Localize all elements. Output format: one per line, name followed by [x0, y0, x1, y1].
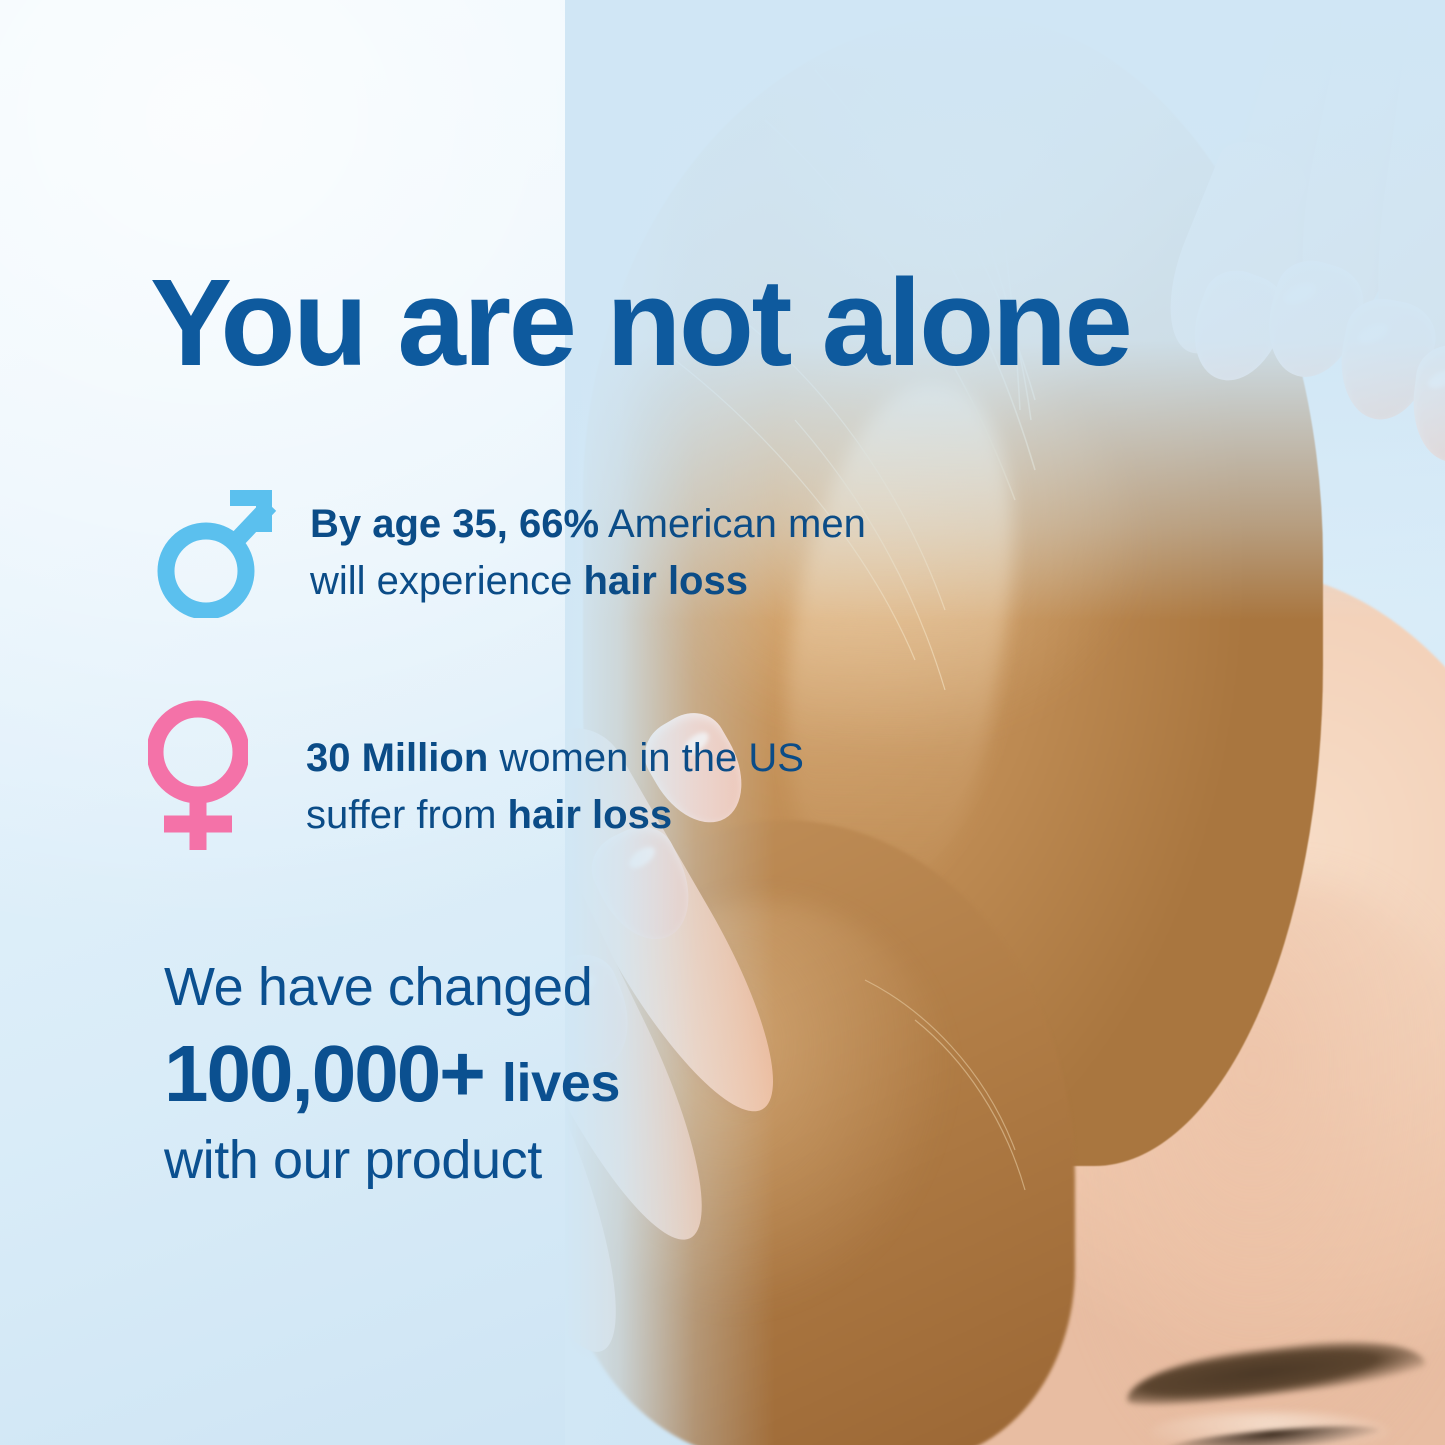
claim-number-suffix: lives: [502, 1053, 620, 1113]
stat-men-line2-rest: will experience: [310, 559, 583, 603]
male-gender-icon: [148, 480, 280, 623]
page-title: You are not alone: [150, 262, 1130, 385]
claim-line-2: 100,000+lives: [164, 1025, 620, 1123]
stat-row-women: 30 Million women in the US suffer from h…: [148, 700, 804, 863]
female-gender-icon: [148, 700, 248, 863]
stat-text-men: By age 35, 66% American men will experie…: [310, 496, 866, 610]
poster-canvas: You are not alone By age 35, 66% America…: [0, 0, 1445, 1445]
stat-women-line1-bold: 30 Million: [306, 736, 488, 780]
stat-row-men: By age 35, 66% American men will experie…: [148, 480, 866, 623]
claim-line-3: with our product: [164, 1130, 542, 1190]
stat-women-line1-rest: women in the US: [488, 736, 804, 780]
stat-men-line2-bold: hair loss: [583, 559, 748, 603]
claim-block: We have changed 100,000+lives with our p…: [164, 955, 620, 1194]
stat-men-line1-rest: American men: [599, 502, 866, 546]
claim-number: 100,000+: [164, 1029, 484, 1118]
stat-men-line1-bold: By age 35, 66%: [310, 502, 599, 546]
stat-text-women: 30 Million women in the US suffer from h…: [306, 730, 804, 844]
stat-women-line2-rest: suffer from: [306, 793, 508, 837]
stat-women-line2-bold: hair loss: [508, 793, 673, 837]
claim-line-1: We have changed: [164, 957, 592, 1017]
